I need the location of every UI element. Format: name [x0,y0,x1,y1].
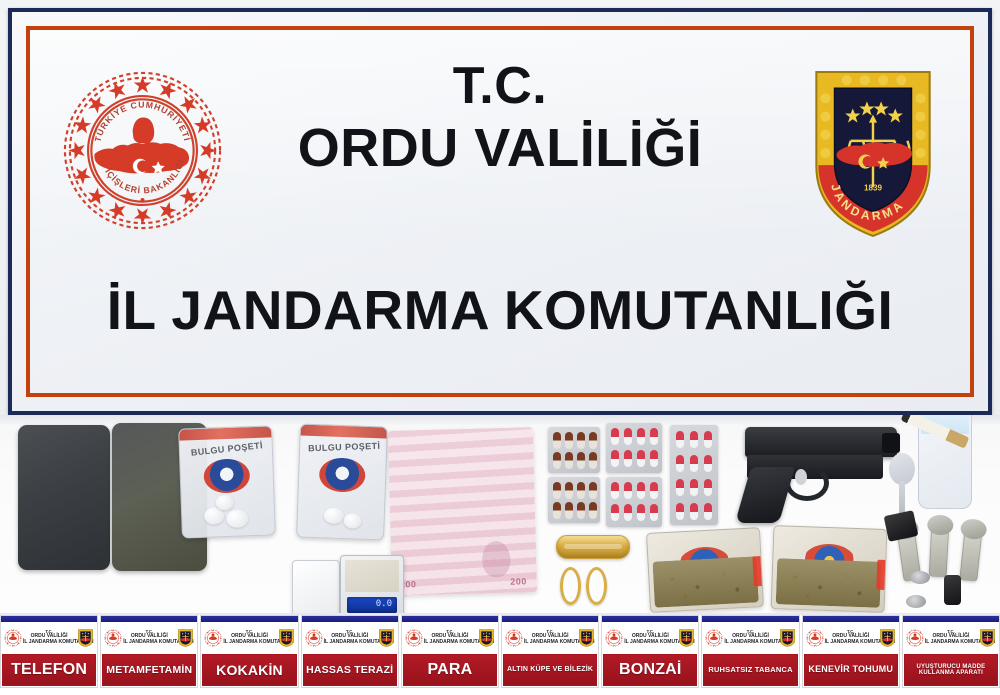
icisleri-bakanligi-seal-icon [4,629,22,647]
bag-contents [776,558,882,608]
evidence-bag-cocaine: BULGU POŞETİ [296,423,388,540]
seized-items-table: BULGU POŞETİ BULGU POŞETİ 200 200 0.0 [0,415,1000,615]
card-header-line-jandarma: İL JANDARMA KOMUTANLIĞI [524,640,576,646]
glass-pipe [959,526,983,582]
pipe-cap [906,595,926,608]
evidence-label-card: T.C.ORDU VALİLİĞİİL JANDARMA KOMUTANLIĞI… [0,615,98,688]
glass-pipe [929,523,950,578]
card-header-line-jandarma: İL JANDARMA KOMUTANLIĞI [925,640,977,646]
gold-hoop-earring [586,567,607,605]
jandarma-crest-icon [779,628,796,647]
evidence-label-text: PARA [427,662,472,678]
icisleri-bakanligi-seal-icon [104,629,122,647]
card-header: T.C.ORDU VALİLİĞİİL JANDARMA KOMUTANLIĞI [903,622,999,653]
card-header-line-jandarma: İL JANDARMA KOMUTANLIĞI [23,640,75,646]
scale-lid [292,560,340,615]
evidence-label-banner: BONZAİ [602,653,698,687]
card-header: T.C.ORDU VALİLİĞİİL JANDARMA KOMUTANLIĞI [1,622,97,653]
bag-tape [301,425,387,439]
jandarma-crest-icon [979,628,996,647]
bag-label-text: BULGU POŞETİ [306,441,382,454]
pellet [215,495,234,511]
evidence-label-banner: UYUŞTURUCU MADDE KULLANMA APARATI [903,653,999,687]
jandarma-crest-icon [177,628,194,647]
main-sign-board: TÜRKİYE CUMHURİYETİ İÇİŞLERİ BAKANLIĞI [8,8,992,415]
bag-red-tab [876,560,887,590]
jandarma-crest-icon [378,628,395,647]
pistol-trigger [795,469,807,485]
card-header-line-jandarma: İL JANDARMA KOMUTANLIĞI [825,640,877,646]
evidence-label-banner: PARA [402,653,498,687]
evidence-bag-cannabis-seeds [771,525,888,613]
pipe-bowl [927,514,954,535]
evidence-label-banner: RUHSATSIZ TABANCA [702,653,798,687]
pill-blister-pack [606,477,662,527]
pill-blister-pack [548,477,600,523]
bag-tape [179,426,271,440]
banknote-denomination: 200 [510,576,527,586]
evidence-label-card: T.C.ORDU VALİLİĞİİL JANDARMA KOMUTANLIĞI… [401,615,499,688]
evidence-label-text: RUHSATSIZ TABANCA [708,666,792,674]
jandarma-crest-icon [879,628,896,647]
scale-lcd-display: 0.0 [347,597,397,613]
card-header: T.C.ORDU VALİLİĞİİL JANDARMA KOMUTANLIĞI [702,622,798,653]
banknote-stack: 200 200 [388,427,537,596]
pill-blister-pack [606,423,662,473]
gold-hoop-earring [560,567,581,605]
sign-title-block: T.C. ORDU VALİLİĞİ [30,60,970,181]
plastic-spoon [889,453,915,515]
jandarma-crest-icon [478,628,495,647]
pistol-grip [735,467,795,523]
evidence-label-banner: KENEVİR TOHUMU [803,653,899,687]
evidence-label-card: T.C.ORDU VALİLİĞİİL JANDARMA KOMUTANLIĞI… [601,615,699,688]
pistol-muzzle [882,433,900,453]
card-header: T.C.ORDU VALİLİĞİİL JANDARMA KOMUTANLIĞI [602,622,698,653]
gold-bangle-bracelet [556,535,630,559]
jandarma-crest-icon [77,628,94,647]
jandarma-crest-icon [678,628,695,647]
icisleri-bakanligi-seal-icon [806,629,824,647]
evidence-label-card: T.C.ORDU VALİLİĞİİL JANDARMA KOMUTANLIĞI… [200,615,298,688]
bag-contents [652,556,758,607]
pellet [324,507,345,524]
icisleri-bakanligi-seal-icon [505,629,523,647]
bag-red-tab [752,556,764,587]
evidence-label-text: TELEFON [11,662,87,678]
pipe-bowl [960,518,988,541]
svg-text:1839: 1839 [864,183,882,192]
sign-line-tc: T.C. [30,60,970,113]
card-header-line-jandarma: İL JANDARMA KOMUTANLIĞI [223,640,275,646]
card-header-line-jandarma: İL JANDARMA KOMUTANLIĞI [424,640,476,646]
card-header: T.C.ORDU VALİLİĞİİL JANDARMA KOMUTANLIĞI [201,622,297,653]
card-header: T.C.ORDU VALİLİĞİİL JANDARMA KOMUTANLIĞI [502,622,598,653]
icisleri-bakanligi-seal-icon [605,629,623,647]
black-pipe-fragment [944,575,961,605]
evidence-label-text: HASSAS TERAZİ [306,665,393,676]
icisleri-bakanligi-seal-icon [204,629,222,647]
pellet [226,509,249,528]
sign-face: TÜRKİYE CUMHURİYETİ İÇİŞLERİ BAKANLIĞI [30,30,970,393]
pistol-slide [745,427,897,457]
icisleri-bakanligi-seal-icon [405,629,423,647]
evidence-label-banner: METAMFETAMİN [101,653,197,687]
evidence-label-text: KOKAKİN [216,663,283,677]
evidence-label-banner: KOKAKİN [201,653,297,687]
scale-weighing-pan [345,560,399,592]
evidence-display-photo: TÜRKİYE CUMHURİYETİ İÇİŞLERİ BAKANLIĞI [0,0,1000,695]
bag-emblem-icon [203,458,250,494]
evidence-label-text: METAMFETAMİN [106,665,192,676]
evidence-label-text: BONZAİ [619,662,682,678]
evidence-label-text: UYUŞTURUCU MADDE KULLANMA APARATI [904,664,998,676]
card-header-line-jandarma: İL JANDARMA KOMUTANLIĞI [123,640,175,646]
card-header-line-jandarma: İL JANDARMA KOMUTANLIĞI [324,640,376,646]
card-header-line-jandarma: İL JANDARMA KOMUTANLIĞI [724,640,776,646]
pill-blister-pack [548,427,600,473]
evidence-label-banner: ALTIN KÜPE VE BİLEZİK [502,653,598,687]
evidence-bag-bonzai [646,527,764,613]
pipe-cap [910,571,930,584]
card-header: T.C.ORDU VALİLİĞİİL JANDARMA KOMUTANLIĞI [402,622,498,653]
digital-pocket-scale: 0.0 [340,555,404,615]
evidence-label-strip: T.C.ORDU VALİLİĞİİL JANDARMA KOMUTANLIĞI… [0,615,1000,695]
evidence-label-card: T.C.ORDU VALİLİĞİİL JANDARMA KOMUTANLIĞI… [902,615,1000,688]
scale-reading: 0.0 [376,599,392,609]
evidence-bag-meth: BULGU POŞETİ [178,425,276,538]
icisleri-bakanligi-seal-icon [906,629,924,647]
evidence-label-card: T.C.ORDU VALİLİĞİİL JANDARMA KOMUTANLIĞI… [301,615,399,688]
evidence-label-card: T.C.ORDU VALİLİĞİİL JANDARMA KOMUTANLIĞI… [501,615,599,688]
icisleri-bakanligi-seal-icon [705,629,723,647]
sign-inner-border: TÜRKİYE CUMHURİYETİ İÇİŞLERİ BAKANLIĞI [26,26,974,397]
pill-blister-pack [670,425,718,525]
evidence-label-text: KENEVİR TOHUMU [808,665,893,674]
card-header-line-jandarma: İL JANDARMA KOMUTANLIĞI [624,640,676,646]
jandarma-crest-icon [278,628,295,647]
jandarma-crest-icon [578,628,595,647]
evidence-label-text: ALTIN KÜPE VE BİLEZİK [507,666,593,673]
sign-line-il-jandarma-komutanligi: İL JANDARMA KOMUTANLIĞI [30,278,970,342]
bag-emblem-icon [319,457,366,493]
evidence-label-banner: HASSAS TERAZİ [302,653,398,687]
evidence-label-card: T.C.ORDU VALİLİĞİİL JANDARMA KOMUTANLIĞI… [701,615,799,688]
card-header: T.C.ORDU VALİLİĞİİL JANDARMA KOMUTANLIĞI [302,622,398,653]
icisleri-bakanligi-seal-icon [305,629,323,647]
sign-line-ordu-valiligi: ORDU VALİLİĞİ [30,117,970,181]
card-header: T.C.ORDU VALİLİĞİİL JANDARMA KOMUTANLIĞI [101,622,197,653]
mobile-phone-black [18,425,110,570]
evidence-label-card: T.C.ORDU VALİLİĞİİL JANDARMA KOMUTANLIĞI… [802,615,900,688]
evidence-label-banner: TELEFON [1,653,97,687]
pellet [343,513,362,529]
evidence-label-card: T.C.ORDU VALİLİĞİİL JANDARMA KOMUTANLIĞI… [100,615,198,688]
card-header: T.C.ORDU VALİLİĞİİL JANDARMA KOMUTANLIĞI [803,622,899,653]
bag-label-text: BULGU POŞETİ [186,440,269,459]
semi-automatic-pistol [735,423,900,521]
banknote-portrait [482,541,511,578]
